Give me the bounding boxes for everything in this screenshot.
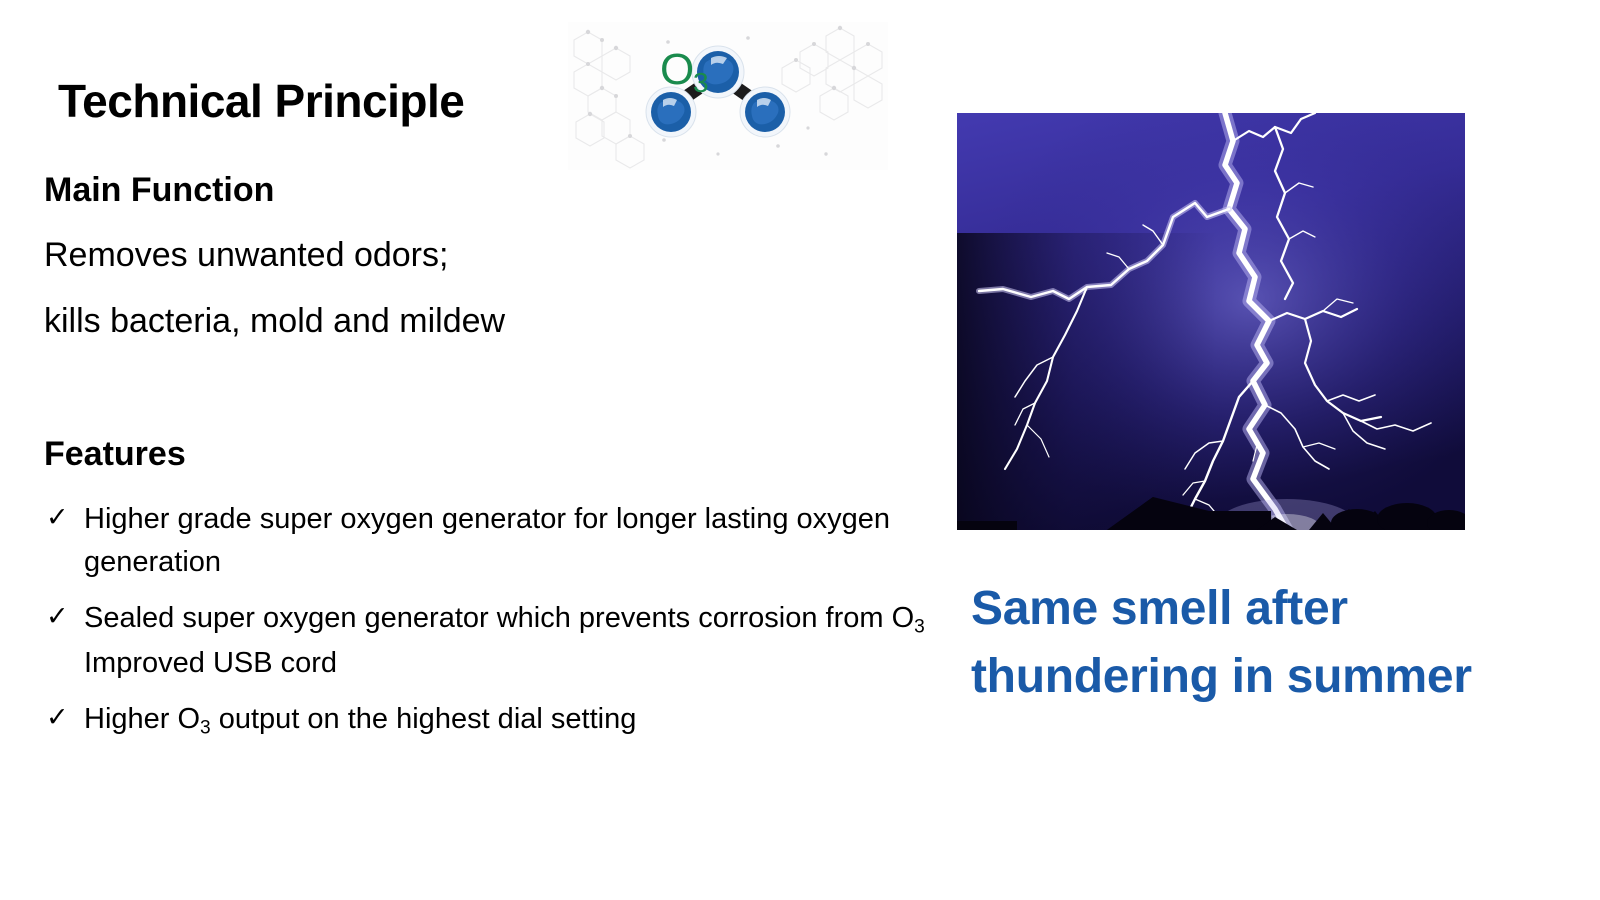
lightning-storm-photo: [957, 113, 1465, 530]
main-function-line-1: Removes unwanted odors;: [44, 238, 448, 272]
checkmark-icon: ✓: [46, 498, 69, 538]
slide-canvas: Technical Principle: [0, 0, 1600, 900]
features-list: ✓ Higher grade super oxygen generator fo…: [46, 498, 936, 757]
list-item-label: Higher O: [84, 703, 200, 735]
subscript-three: 3: [914, 617, 925, 638]
list-item: ✓ Higher grade super oxygen generator fo…: [46, 498, 936, 583]
subscript-three: 3: [200, 718, 211, 739]
main-function-line-2: kills bacteria, mold and mildew: [44, 304, 505, 338]
checkmark-icon: ✓: [46, 698, 69, 738]
main-function-heading: Main Function: [44, 173, 274, 207]
page-title: Technical Principle: [58, 78, 464, 124]
ozone-molecule-graphic: O 3: [568, 22, 888, 170]
list-item: ✓ Higher O3 output on the highest dial s…: [46, 698, 936, 742]
svg-text:3: 3: [693, 67, 709, 98]
checkmark-icon: ✓: [46, 597, 69, 637]
list-item: ✓ Sealed super oxygen generator which pr…: [46, 597, 936, 684]
list-item-extra-line: Improved USB cord: [84, 642, 936, 685]
svg-text:O: O: [660, 45, 694, 94]
features-heading: Features: [44, 437, 186, 471]
list-item-label: Higher grade super oxygen generator for …: [84, 503, 890, 578]
list-item-label: Sealed super oxygen generator which prev…: [84, 602, 914, 634]
caption-text: Same smell after thundering in summer: [971, 575, 1491, 711]
list-item-label-tail: output on the highest dial setting: [211, 703, 637, 735]
